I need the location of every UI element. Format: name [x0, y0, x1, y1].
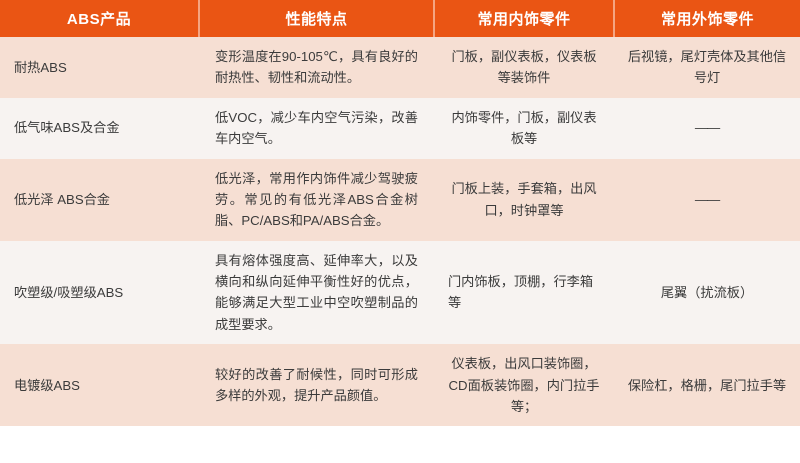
cell-product-name: 低光泽 ABS合金	[0, 159, 199, 241]
cell-interior-parts: 门内饰板，顶棚，行李箱等	[434, 241, 614, 345]
cell-exterior-parts: 保险杠，格栅，尾门拉手等	[614, 344, 800, 426]
abs-product-table: ABS产品 性能特点 常用内饰零件 常用外饰零件 耐热ABS 变形温度在90-1…	[0, 0, 800, 426]
cell-product-name: 低气味ABS及合金	[0, 98, 199, 159]
column-header-feature: 性能特点	[199, 0, 434, 37]
cell-interior-parts: 内饰零件，门板，副仪表板等	[434, 98, 614, 159]
cell-exterior-parts: ——	[614, 98, 800, 159]
cell-feature: 具有熔体强度高、延伸率大，以及横向和纵向延伸平衡性好的优点，能够满足大型工业中空…	[199, 241, 434, 345]
column-header-interior-parts: 常用内饰零件	[434, 0, 614, 37]
cell-product-name: 耐热ABS	[0, 37, 199, 98]
table-header: ABS产品 性能特点 常用内饰零件 常用外饰零件	[0, 0, 800, 37]
cell-product-name: 电镀级ABS	[0, 344, 199, 426]
cell-interior-parts: 仪表板，出风口装饰圈，CD面板装饰圈，内门拉手等；	[434, 344, 614, 426]
cell-exterior-parts: 后视镜，尾灯壳体及其他信号灯	[614, 37, 800, 98]
column-header-exterior-parts: 常用外饰零件	[614, 0, 800, 37]
cell-feature: 低光泽，常用作内饰件减少驾驶疲劳。常见的有低光泽ABS合金树脂、PC/ABS和P…	[199, 159, 434, 241]
table-row: 电镀级ABS 较好的改善了耐候性，同时可形成多样的外观，提升产品颜值。 仪表板，…	[0, 344, 800, 426]
column-header-product: ABS产品	[0, 0, 199, 37]
table-row: 耐热ABS 变形温度在90-105℃，具有良好的耐热性、韧性和流动性。 门板，副…	[0, 37, 800, 98]
cell-exterior-parts: ——	[614, 159, 800, 241]
abs-product-table-container: ABS产品 性能特点 常用内饰零件 常用外饰零件 耐热ABS 变形温度在90-1…	[0, 0, 800, 463]
cell-exterior-parts: 尾翼（扰流板）	[614, 241, 800, 345]
cell-feature: 变形温度在90-105℃，具有良好的耐热性、韧性和流动性。	[199, 37, 434, 98]
cell-interior-parts: 门板上装，手套箱，出风口，时钟罩等	[434, 159, 614, 241]
table-body: 耐热ABS 变形温度在90-105℃，具有良好的耐热性、韧性和流动性。 门板，副…	[0, 37, 800, 426]
cell-product-name: 吹塑级/吸塑级ABS	[0, 241, 199, 345]
cell-feature: 较好的改善了耐候性，同时可形成多样的外观，提升产品颜值。	[199, 344, 434, 426]
table-row: 低光泽 ABS合金 低光泽，常用作内饰件减少驾驶疲劳。常见的有低光泽ABS合金树…	[0, 159, 800, 241]
table-header-row: ABS产品 性能特点 常用内饰零件 常用外饰零件	[0, 0, 800, 37]
cell-interior-parts: 门板，副仪表板，仪表板等装饰件	[434, 37, 614, 98]
cell-feature: 低VOC，减少车内空气污染，改善车内空气。	[199, 98, 434, 159]
table-row: 低气味ABS及合金 低VOC，减少车内空气污染，改善车内空气。 内饰零件，门板，…	[0, 98, 800, 159]
table-row: 吹塑级/吸塑级ABS 具有熔体强度高、延伸率大，以及横向和纵向延伸平衡性好的优点…	[0, 241, 800, 345]
